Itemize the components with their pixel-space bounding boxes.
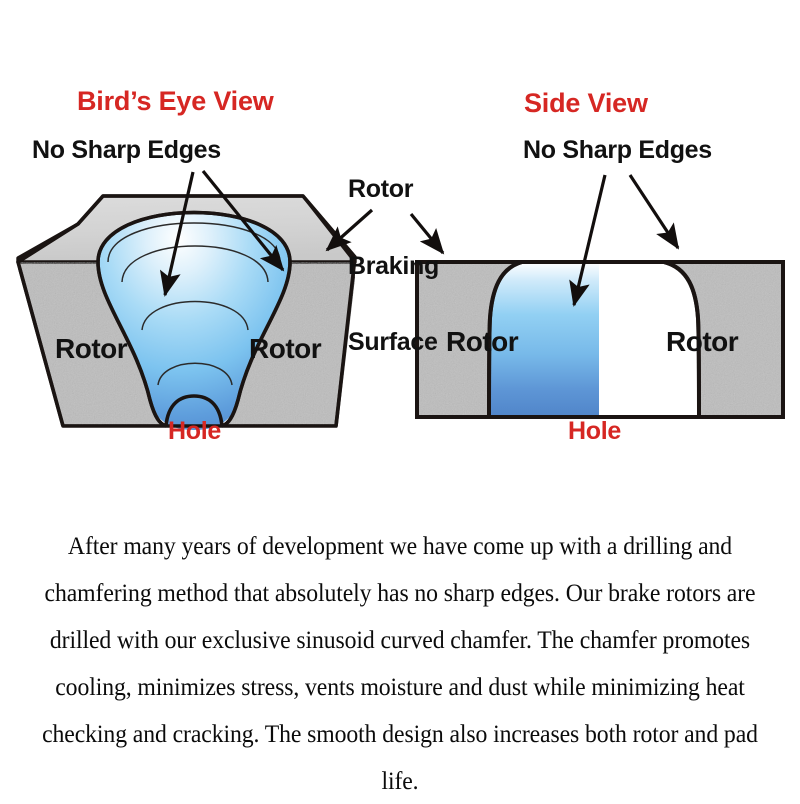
rotor-label-birds-eye-left: Rotor — [55, 333, 127, 365]
arrow-sv-nse-right — [630, 175, 678, 248]
braking-surface-line-2: Braking — [348, 254, 439, 280]
illustration-page: Bird’s Eye View Side View No Sharp Edges… — [0, 0, 800, 800]
braking-surface-line-1: Rotor — [348, 177, 439, 203]
no-sharp-edges-label-left: No Sharp Edges — [32, 138, 221, 164]
hole-label-birds-eye: Hole — [168, 419, 221, 445]
rotor-label-side-view-right: Rotor — [666, 326, 738, 358]
body-paragraph-block: After many years of development we have … — [0, 522, 800, 804]
hole-label-side-view: Hole — [568, 419, 621, 445]
rotor-label-side-view-left: Rotor — [446, 326, 518, 358]
rotor-label-birds-eye-right: Rotor — [249, 333, 321, 365]
diagram-area: Bird’s Eye View Side View No Sharp Edges… — [0, 0, 800, 470]
no-sharp-edges-label-right: No Sharp Edges — [523, 138, 712, 164]
braking-surface-line-3: Surface — [348, 330, 439, 356]
rotor-braking-surface-label: Rotor Braking Surface — [348, 126, 439, 407]
birds-eye-view-block — [18, 196, 355, 430]
birds-eye-view-title: Bird’s Eye View — [77, 88, 274, 116]
side-view-title: Side View — [524, 90, 648, 118]
body-paragraph-text: After many years of development we have … — [34, 522, 767, 804]
